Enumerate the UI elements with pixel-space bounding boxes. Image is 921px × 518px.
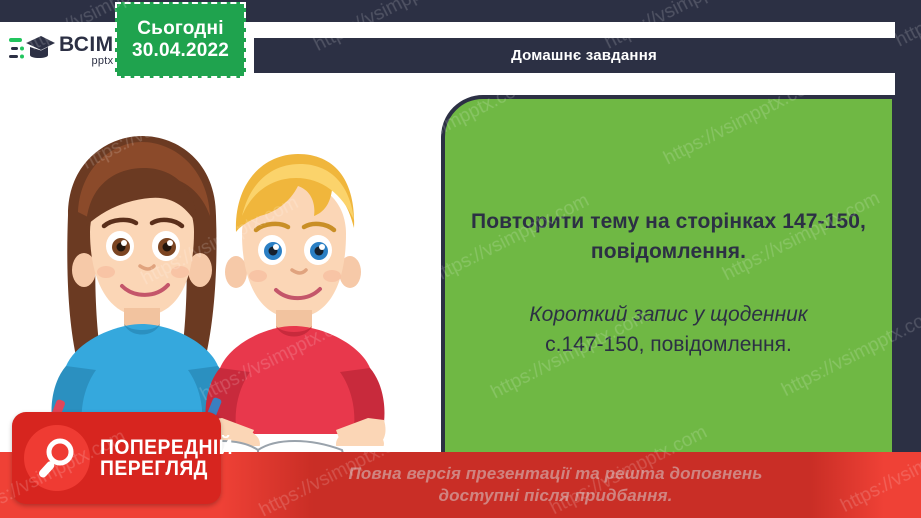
graduation-cap-icon xyxy=(8,30,56,70)
purchase-notice-line1: Повна версія презентації та решта доповн… xyxy=(349,463,763,485)
presentation-slide: Повторити тему на сторінках 147-150, пов… xyxy=(0,0,921,518)
brand-logo[interactable]: ВСІМ pptx xyxy=(8,26,116,74)
magnifier-icon xyxy=(24,425,90,491)
homework-note-pages: с.147-150, повідомлення. xyxy=(545,330,792,360)
purchase-notice-text: Повна версія презентації та решта доповн… xyxy=(349,463,763,507)
logo-wordmark: ВСІМ pptx xyxy=(59,34,113,67)
homework-task-bold: Повторити тему на сторінках 147-150, пов… xyxy=(467,207,870,268)
right-dark-band xyxy=(895,0,921,518)
preview-badge[interactable]: ПОПЕРЕДНІЙ ПЕРЕГЛЯД xyxy=(12,412,221,504)
illustration-children-studying xyxy=(10,120,440,460)
preview-badge-line1: ПОПЕРЕДНІЙ xyxy=(100,437,233,458)
slide-title: Домашнє завдання xyxy=(511,47,657,64)
boy-figure xyxy=(191,154,386,460)
date-badge-label: Сьогодні xyxy=(137,18,223,40)
today-date-badge: Сьогодні 30.04.2022 xyxy=(115,2,246,78)
homework-note-italic: Короткий запис у щоденник xyxy=(529,300,807,330)
slide-title-bar: Домашнє завдання xyxy=(254,38,914,73)
purchase-notice-line2: доступні після придбання. xyxy=(349,485,763,507)
homework-content-panel: Повторити тему на сторінках 147-150, пов… xyxy=(441,95,896,492)
preview-badge-line2: ПЕРЕГЛЯД xyxy=(100,458,233,479)
date-badge-value: 30.04.2022 xyxy=(132,40,229,62)
logo-subtitle: pptx xyxy=(59,56,113,67)
preview-badge-text: ПОПЕРЕДНІЙ ПЕРЕГЛЯД xyxy=(100,437,245,479)
logo-title: ВСІМ xyxy=(59,34,113,55)
